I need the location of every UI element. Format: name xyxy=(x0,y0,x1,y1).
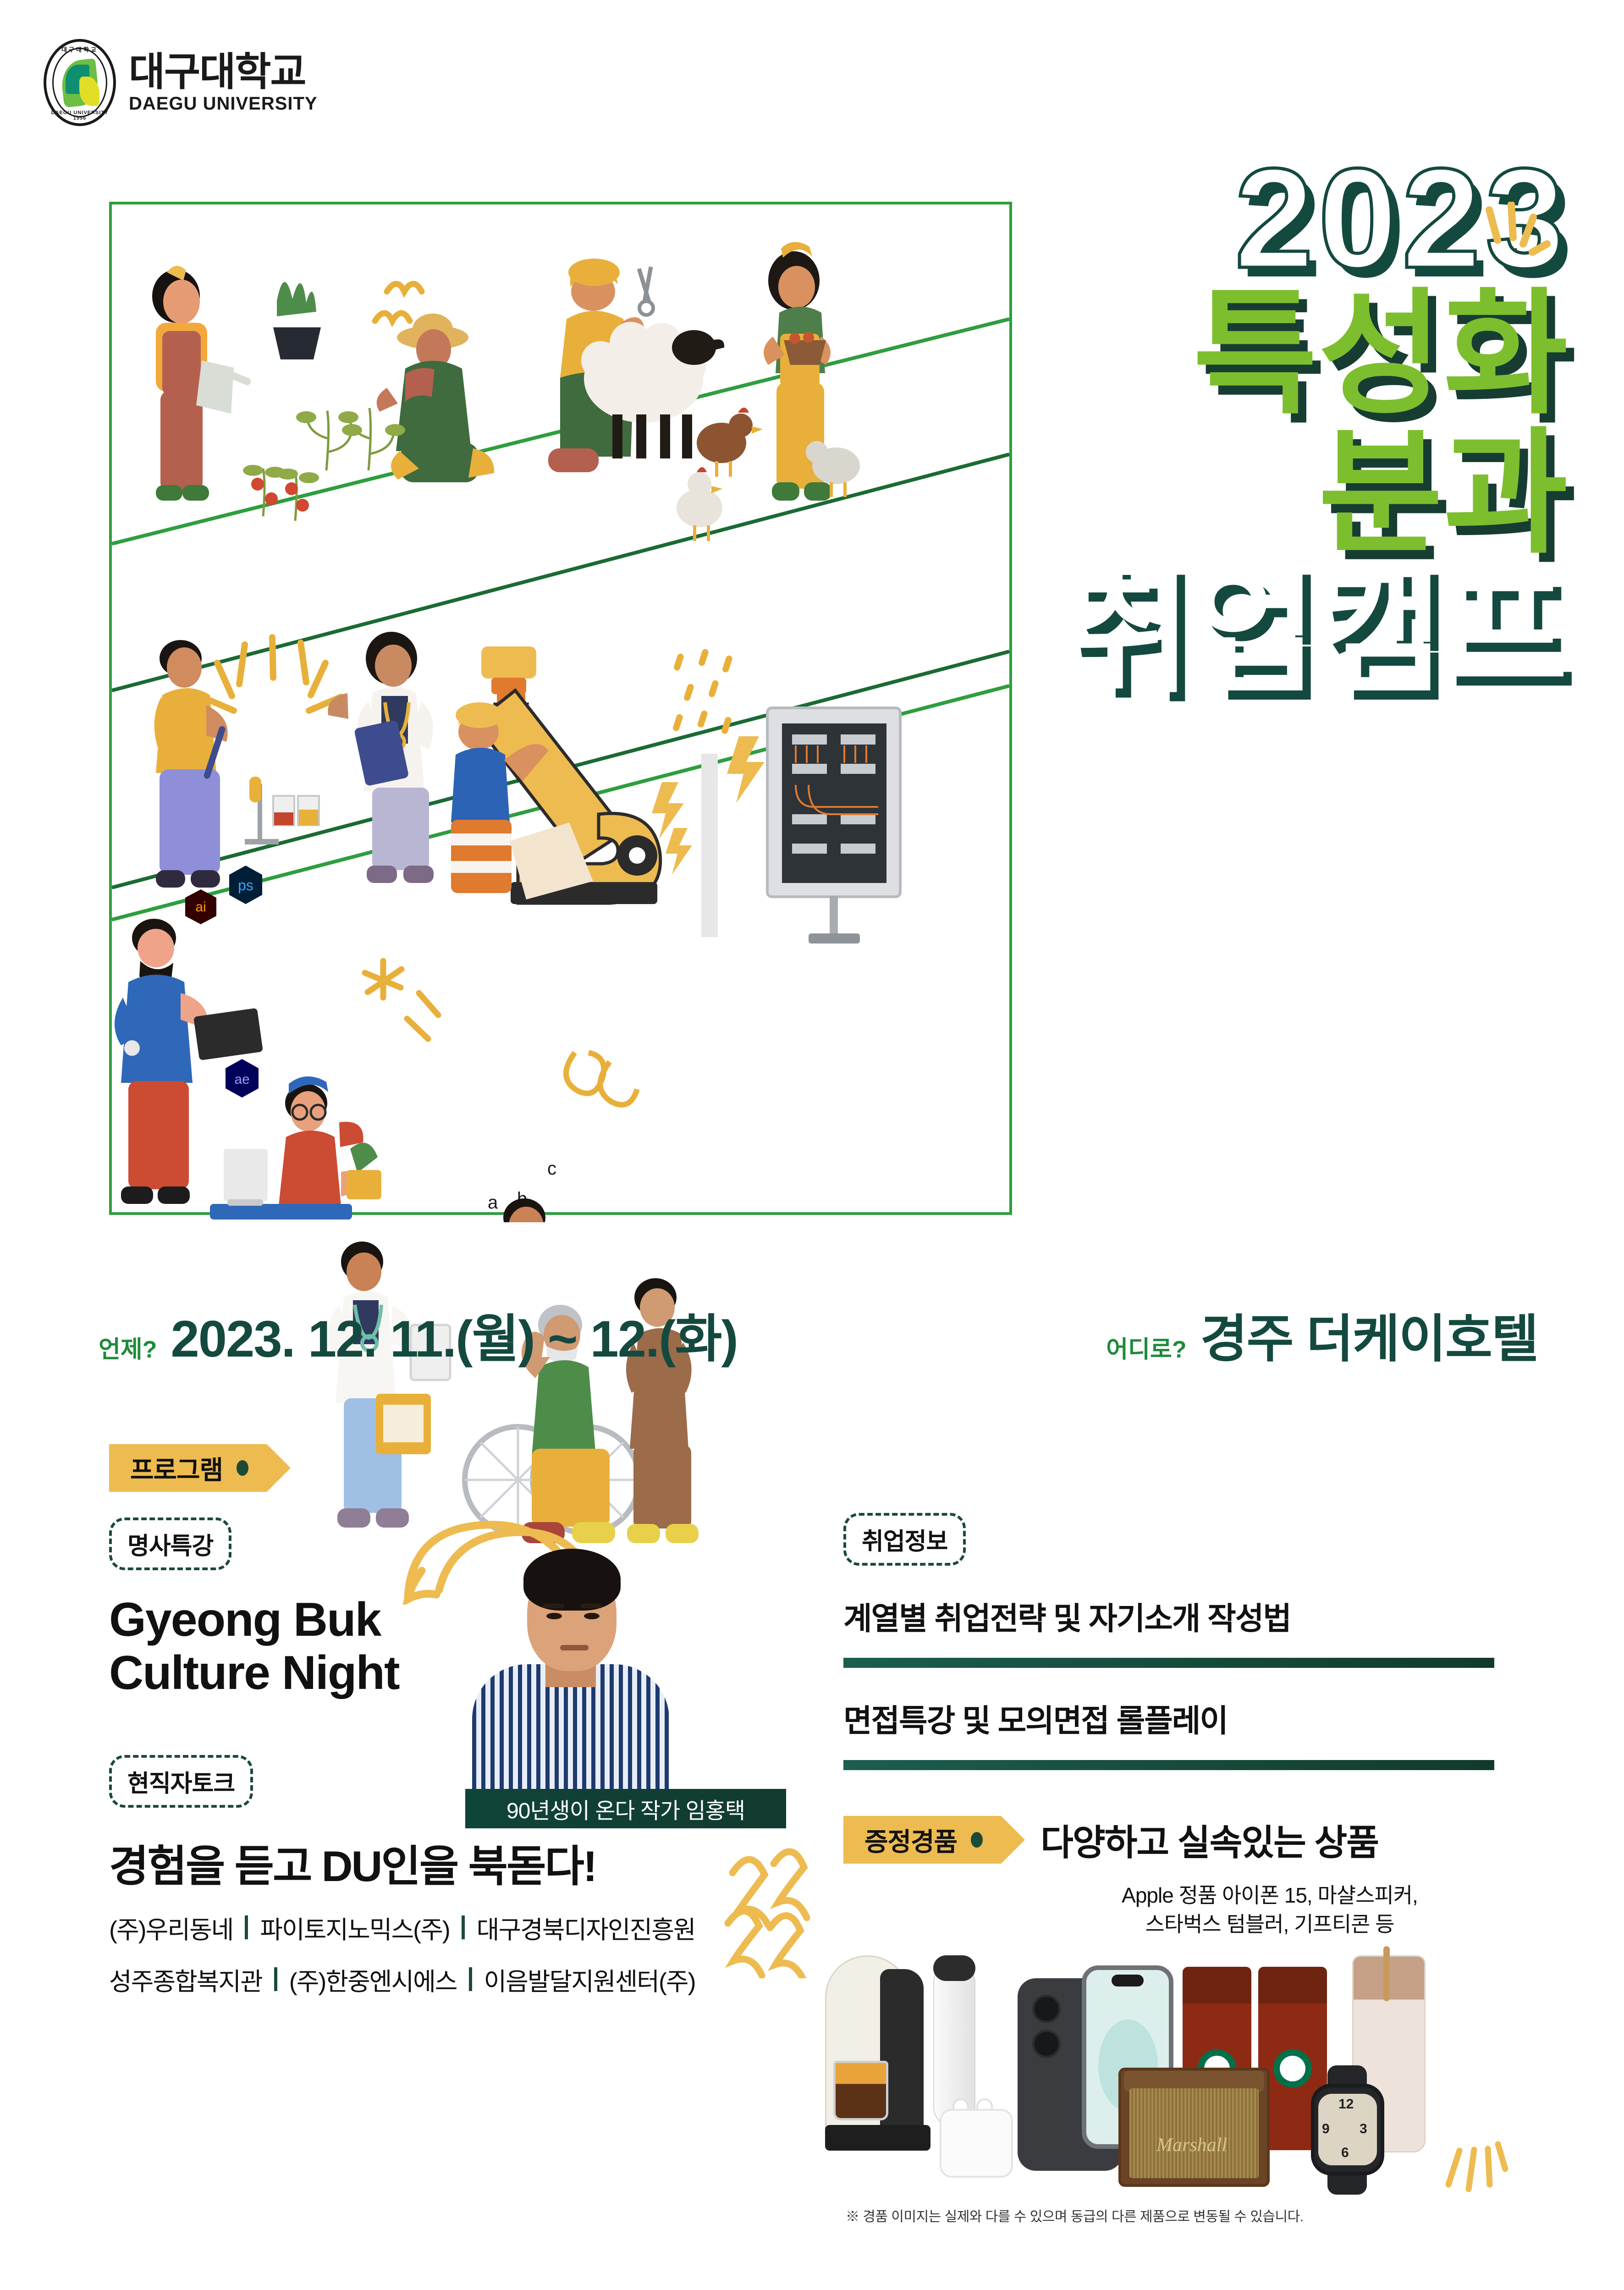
sparkle-icon xyxy=(1477,202,1555,280)
when-label: 언제? xyxy=(99,1330,157,1372)
divider-bar xyxy=(843,1658,1494,1668)
prize-badge-label: 증정경품 xyxy=(864,1821,957,1859)
divider-bar xyxy=(843,1760,1494,1770)
prize-badge: 증정경품 xyxy=(843,1816,1001,1864)
prize-description-line1: Apple 정품 아이폰 15, 마샬스피커, xyxy=(1018,1881,1522,1910)
watch-numeral-3: 3 xyxy=(1360,2121,1367,2137)
svg-text:ai: ai xyxy=(195,899,206,915)
where-label: 어디로? xyxy=(1106,1330,1186,1372)
title-line1: 특성화 xyxy=(1068,285,1569,424)
prize-description-line2: 스타벅스 텀블러, 기프티콘 등 xyxy=(1018,1910,1522,1939)
company-item: (주)우리동네 xyxy=(109,1909,233,1946)
sparkle-icon xyxy=(1439,2116,1513,2198)
welfare-illustration: ai ps ae xyxy=(112,846,1009,1222)
event-details: 언제? 2023. 12. 11.(월) ~ 12.(화) 어디로? 경주 더케… xyxy=(99,1297,1538,1372)
starbucks-logo-icon xyxy=(1273,2049,1312,2088)
logo-korean-name: 대구대학교 xyxy=(129,52,318,92)
job-info-badge: 취업정보 xyxy=(843,1513,966,1566)
job-info-item-1: 계열별 취업전략 및 자기소개 작성법 xyxy=(843,1593,1604,1639)
logo-wordmark: 대구대학교 DAEGU UNIVERSITY xyxy=(129,52,318,113)
speaker-caption: 90년생이 온다 작가 임홍택 xyxy=(506,1793,745,1825)
separator xyxy=(245,1915,248,1939)
watch-numeral-12: 12 xyxy=(1338,2097,1354,2112)
watch-numeral-9: 9 xyxy=(1322,2121,1330,2137)
program-badge-label: 프로그램 xyxy=(130,1450,223,1487)
program-badge: 프로그램 xyxy=(109,1444,267,1492)
when-value: 2023. 12. 11.(월) ~ 12.(화) xyxy=(171,1297,737,1372)
separator xyxy=(274,1967,277,1991)
title-line2: 분과 xyxy=(1068,424,1569,563)
title-line3: 취업캠프 xyxy=(1068,563,1569,703)
marshall-wordmark: Marshall xyxy=(1146,2134,1238,2156)
badge-dot-icon xyxy=(971,1832,983,1848)
separator xyxy=(462,1915,465,1939)
camera-lens-icon xyxy=(1032,1995,1061,2023)
separator xyxy=(469,1967,472,1991)
job-info-column: 취업정보 계열별 취업전략 및 자기소개 작성법 면접특강 및 모의면접 롤플레… xyxy=(843,1513,1604,1939)
svg-text:a: a xyxy=(488,1192,498,1213)
prize-description: Apple 정품 아이폰 15, 마샬스피커, 스타벅스 텀블러, 기프티콘 등 xyxy=(1018,1881,1522,1939)
svg-text:ps: ps xyxy=(238,877,253,894)
seal-bottom-text: DAEGU UNIVERSITY 1956 xyxy=(46,110,113,121)
seal-leaf-emblem xyxy=(60,57,99,108)
speaker-photo xyxy=(458,1513,678,1806)
logo-english-name: DAEGU UNIVERSITY xyxy=(129,94,318,113)
straw-icon xyxy=(1383,1946,1390,2001)
speaker-caption-bar: 90년생이 온다 작가 임홍택 xyxy=(465,1789,786,1828)
coffee-cup-image xyxy=(833,2061,888,2120)
prize-note: ※ 경품 이미지는 실제와 다를 수 있으며 동급의 다른 제품으로 변동될 수… xyxy=(846,2205,1304,2225)
prize-headline: 다양하고 실속있는 상품 xyxy=(1040,1814,1378,1865)
company-item: (주)한중엔시에스 xyxy=(289,1961,457,1998)
company-item: 이음발달지원센터(주) xyxy=(484,1961,695,1998)
prize-header: 증정경품 다양하고 실속있는 상품 xyxy=(843,1814,1604,1865)
svg-text:ae: ae xyxy=(234,1072,249,1087)
company-item: 성주종합복지관 xyxy=(109,1961,262,1998)
camera-lens-icon xyxy=(1032,2030,1061,2058)
illustration-frame: ai ps ae xyxy=(109,202,1012,1215)
university-seal-icon: 대구대학교 DAEGU UNIVERSITY 1956 xyxy=(44,39,116,126)
watch-numeral-6: 6 xyxy=(1341,2145,1349,2161)
prize-products: Marshall 12 3 6 9 xyxy=(825,1951,1503,2207)
poster-title: 2023 특성화 분과 취업캠프 xyxy=(1068,151,1569,703)
university-logo: 대구대학교 DAEGU UNIVERSITY 1956 대구대학교 DAEGU … xyxy=(44,39,318,126)
airpods-case-image xyxy=(940,2109,1013,2178)
agriculture-illustration xyxy=(112,223,1009,635)
where-value: 경주 더케이호텔 xyxy=(1200,1297,1538,1372)
badge-dot-icon xyxy=(237,1460,248,1476)
job-info-item-2: 면접특강 및 모의면접 롤플레이 xyxy=(843,1695,1604,1741)
company-item: 파이토지노믹스(주) xyxy=(260,1909,449,1946)
svg-text:c: c xyxy=(547,1159,556,1179)
company-item: 대구경북디자인진흥원 xyxy=(477,1909,695,1946)
keynote-badge: 명사특강 xyxy=(109,1517,231,1570)
talk-badge: 현직자토크 xyxy=(109,1755,253,1808)
seal-top-text: 대구대학교 xyxy=(46,45,113,54)
